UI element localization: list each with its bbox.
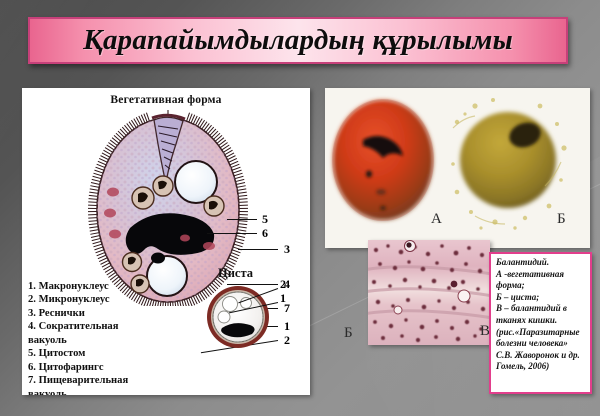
legend-item-4: 4. Сократительная вакуоль <box>28 320 218 347</box>
cyst-heading: Циста <box>218 266 253 281</box>
slide-canvas: Қарапайымдылардың құрылымы Вегетативная … <box>0 0 600 416</box>
micrograph-images <box>325 88 590 248</box>
diagram-panel: Вегетативная форма <box>22 88 310 395</box>
leader-line-3 <box>238 249 278 250</box>
legend-item-7: 7. Пищеварительная вакуоль <box>28 374 218 395</box>
leader-line-5 <box>227 219 257 220</box>
legend-list: 1. Макронуклеус 2. Микронуклеус 3. Ресни… <box>28 280 218 395</box>
page-title: Қарапайымдылардың құрылымы <box>83 24 513 57</box>
micrograph-label-b: Б <box>557 211 566 228</box>
callout-5: 5 <box>262 212 268 227</box>
callout-cyst-2: 2 <box>280 277 286 292</box>
caption-text: Балантидий. А -вегетативная форма; Б – ц… <box>496 257 586 373</box>
leader-line-6 <box>207 233 257 234</box>
legend-item-1: 1. Макронуклеус <box>28 280 218 293</box>
legend-item-6: 6. Цитофарингс <box>28 361 218 374</box>
callout-cyst-1: 1 <box>280 291 286 306</box>
histology-panel <box>368 240 490 345</box>
micrograph-label-a: А <box>431 211 442 228</box>
callout-2: 2 <box>284 333 290 348</box>
histology-section-image <box>368 240 490 345</box>
vegetative-form-heading: Вегетативная форма <box>22 94 310 106</box>
title-banner: Қарапайымдылардың құрылымы <box>28 17 568 64</box>
micrograph-label-b-lower: Б <box>344 325 353 342</box>
callout-6: 6 <box>262 226 268 241</box>
micrograph-panel: А Б <box>325 88 590 248</box>
legend-item-2: 2. Микронуклеус <box>28 293 218 306</box>
legend-item-5: 5. Цитостом <box>28 347 218 360</box>
legend-item-3: 3. Реснички <box>28 307 218 320</box>
callout-1: 1 <box>284 319 290 334</box>
caption-box: Балантидий. А -вегетативная форма; Б – ц… <box>489 252 592 394</box>
callout-3: 3 <box>284 242 290 257</box>
